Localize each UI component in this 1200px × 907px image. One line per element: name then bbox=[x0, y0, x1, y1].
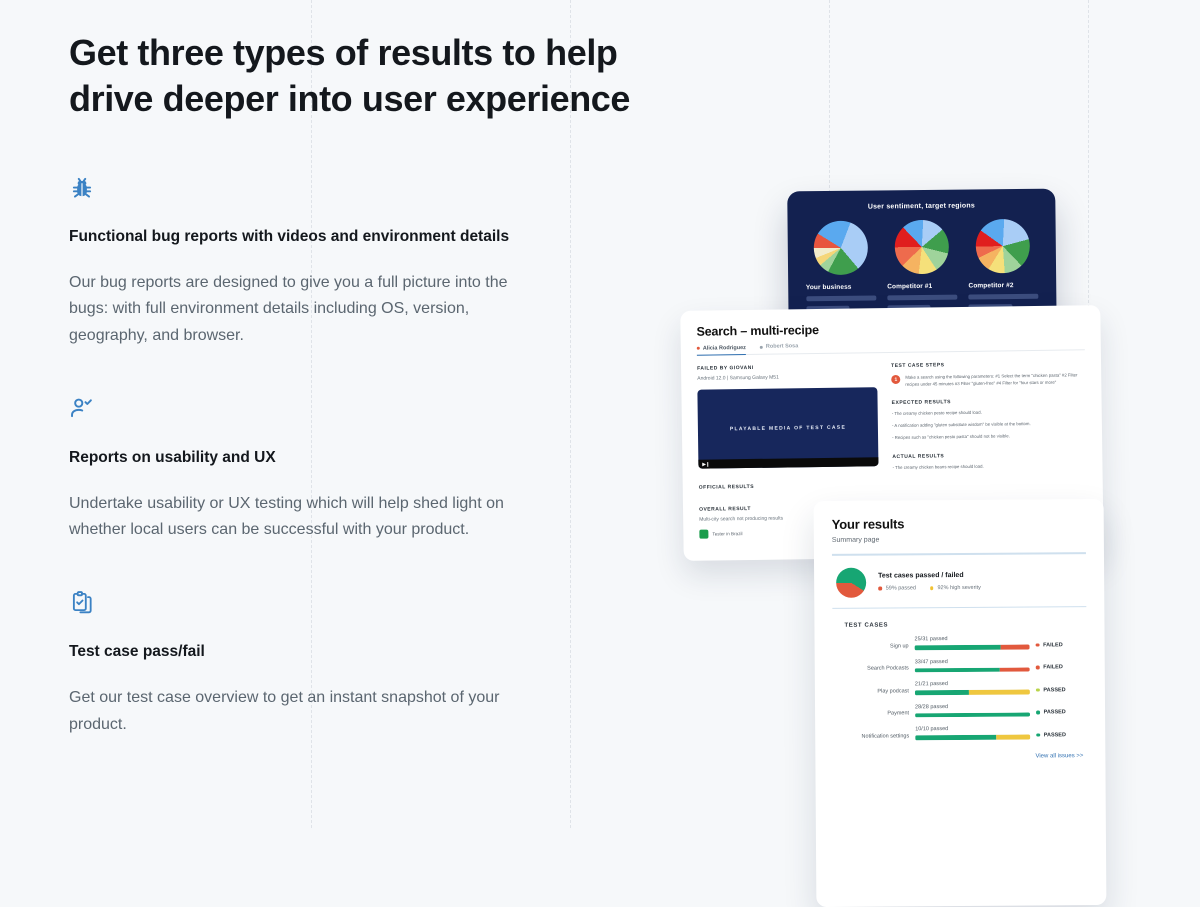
pie-chart bbox=[813, 221, 868, 276]
test-case-row: Notification settings10/10 passedPASSED bbox=[833, 725, 1087, 740]
results-title: Your results bbox=[832, 515, 1086, 532]
test-case-name: Notification settings bbox=[833, 733, 909, 741]
divider bbox=[832, 552, 1086, 555]
tab-tester-alicia[interactable]: Alicia Rodriguez bbox=[697, 344, 746, 356]
test-case-caption: 21/21 passed bbox=[915, 681, 1030, 688]
test-case-caption: 33/47 passed bbox=[915, 658, 1030, 665]
progress-fill-passed bbox=[915, 735, 996, 740]
test-case-name: Payment bbox=[833, 710, 909, 718]
content-column: Get three types of results to help drive… bbox=[69, 30, 709, 778]
test-case-status: PASSED bbox=[1036, 709, 1086, 716]
status-dot-icon bbox=[1036, 711, 1040, 715]
legend-item-passed: 59% passed bbox=[878, 585, 916, 591]
test-case-name: Sign up bbox=[833, 643, 909, 651]
legend-item-severity: 92% high severity bbox=[930, 585, 981, 591]
feature-item-bug-reports: Functional bug reports with videos and e… bbox=[69, 174, 709, 349]
flag-icon bbox=[699, 530, 708, 539]
bug-icon bbox=[69, 174, 95, 200]
progress-fill-passed bbox=[915, 645, 1001, 650]
page-title: Get three types of results to help drive… bbox=[69, 30, 709, 122]
pie-chart bbox=[895, 220, 950, 275]
test-case-name: Search Podcasts bbox=[833, 665, 909, 673]
pie-chart-competitor-1: Competitor #1 bbox=[887, 220, 958, 311]
test-case-row: Payment28/28 passedPASSED bbox=[833, 703, 1087, 718]
divider bbox=[832, 606, 1086, 609]
test-case-caption: 28/28 passed bbox=[915, 703, 1030, 710]
status-dot-icon bbox=[697, 347, 700, 350]
legend-label: 92% high severity bbox=[937, 585, 980, 591]
clipboard-check-icon bbox=[69, 589, 95, 615]
test-case-row: Search Podcasts33/47 passedFAILED bbox=[833, 658, 1087, 673]
step-text: Make a search using the following parame… bbox=[905, 372, 1085, 388]
status-label: PASSED bbox=[1043, 687, 1065, 693]
legend-swatch-icon bbox=[930, 586, 934, 590]
media-player[interactable]: PLAYABLE MEDIA OF TEST CASE ▶❙ bbox=[697, 387, 878, 469]
status-dot-icon bbox=[1036, 688, 1040, 692]
status-dot-icon bbox=[1036, 643, 1040, 647]
feature-item-usability: Reports on usability and UX Undertake us… bbox=[69, 395, 709, 543]
tab-label: Robert Sosa bbox=[766, 343, 798, 349]
summary-block: Test cases passed / failed 59% passed 92… bbox=[836, 566, 1086, 598]
feature-item-test-cases: Test case pass/fail Get our test case ov… bbox=[69, 589, 709, 737]
summary-legend: 59% passed 92% high severity bbox=[878, 585, 981, 592]
actual-results-heading: ACTUAL RESULTS bbox=[892, 451, 1086, 460]
status-dot-icon bbox=[1036, 666, 1040, 670]
progress-fill-remainder bbox=[969, 690, 1030, 695]
progress-bar bbox=[915, 712, 1030, 717]
test-step: 1 Make a search using the following para… bbox=[891, 372, 1085, 388]
tester-name: Tester in Brazil bbox=[712, 531, 742, 536]
progress-fill-passed bbox=[915, 690, 969, 695]
progress-fill-remainder bbox=[1001, 645, 1030, 650]
test-case-progress: 33/47 passed bbox=[915, 658, 1030, 672]
progress-fill-remainder bbox=[1000, 667, 1030, 672]
pie-chart-competitor-2: Competitor #2 bbox=[968, 219, 1039, 310]
feature-title: Test case pass/fail bbox=[69, 641, 709, 663]
test-cases-heading: TEST CASES bbox=[844, 621, 1086, 629]
failed-by-heading: FAILED BY GIOVANI bbox=[697, 363, 877, 372]
progress-bar bbox=[915, 690, 1030, 695]
test-case-status: FAILED bbox=[1036, 642, 1086, 649]
test-case-caption: 10/10 passed bbox=[915, 726, 1030, 733]
test-case-caption: 25/31 passed bbox=[915, 636, 1030, 643]
pie-chart bbox=[976, 219, 1031, 274]
feature-body: Our bug reports are designed to give you… bbox=[69, 270, 549, 349]
pie-label: Your business bbox=[806, 283, 876, 291]
progress-bar bbox=[915, 645, 1030, 650]
actual-result-item: - The creamy chicken beans recipe should… bbox=[893, 462, 1087, 472]
expected-result-item: - Recipes such as "chicken pesto pasta" … bbox=[892, 432, 1086, 442]
progress-fill-remainder bbox=[996, 735, 1031, 740]
feature-title: Reports on usability and UX bbox=[69, 447, 709, 469]
progress-fill-passed bbox=[915, 667, 1000, 672]
pie-label: Competitor #2 bbox=[968, 282, 1038, 290]
feature-title: Functional bug reports with videos and e… bbox=[69, 226, 709, 248]
status-label: FAILED bbox=[1043, 642, 1063, 648]
status-dot-icon bbox=[1036, 733, 1040, 737]
expected-result-item: - A notification adding "gluten substitu… bbox=[892, 420, 1086, 430]
feature-body: Undertake usability or UX testing which … bbox=[69, 491, 549, 544]
test-case-title: Search – multi-recipe bbox=[696, 319, 1084, 338]
test-case-status: FAILED bbox=[1036, 664, 1086, 671]
test-case-name: Play podcast bbox=[833, 688, 909, 696]
legend-swatch-icon bbox=[878, 587, 882, 591]
user-check-icon bbox=[69, 395, 95, 421]
test-case-progress: 28/28 passed bbox=[915, 703, 1030, 717]
view-all-issues-link[interactable]: View all issues >> bbox=[833, 753, 1083, 761]
status-label: PASSED bbox=[1044, 709, 1066, 715]
status-label: FAILED bbox=[1043, 664, 1063, 670]
expected-result-item: - The creamy chicken pesto recipe should… bbox=[892, 409, 1086, 419]
official-results-heading: OFFICIAL RESULTS bbox=[699, 482, 879, 491]
tab-label: Alicia Rodriguez bbox=[703, 345, 746, 352]
test-case-status: PASSED bbox=[1036, 732, 1086, 739]
placeholder-bar bbox=[806, 295, 876, 301]
sentiment-card-title: User sentiment, target regions bbox=[787, 202, 1055, 212]
progress-bar bbox=[915, 735, 1030, 740]
test-case-progress: 25/31 passed bbox=[915, 636, 1030, 650]
pie-label: Competitor #1 bbox=[887, 283, 957, 291]
test-case-status: PASSED bbox=[1036, 687, 1086, 694]
media-controls[interactable]: ▶❙ bbox=[698, 457, 878, 469]
product-screenshot-stack: User sentiment, target regions Your busi… bbox=[660, 150, 1200, 810]
legend-label: 59% passed bbox=[886, 585, 916, 591]
status-dot-icon bbox=[760, 345, 763, 348]
landing-section: Get three types of results to help drive… bbox=[0, 0, 1200, 828]
progress-fill-passed bbox=[915, 712, 1030, 717]
tester-tabs: Alicia Rodriguez Robert Sosa bbox=[697, 339, 1085, 355]
results-card: Your results Summary page Test cases pas… bbox=[814, 499, 1107, 907]
feature-body: Get our test case overview to get an ins… bbox=[69, 685, 549, 738]
placeholder-bar bbox=[887, 295, 957, 301]
progress-bar bbox=[915, 667, 1030, 672]
test-case-steps-heading: TEST CASE STEPS bbox=[891, 360, 1085, 369]
step-number: 1 bbox=[891, 375, 900, 384]
tab-tester-robert[interactable]: Robert Sosa bbox=[760, 343, 798, 350]
pass-fail-donut-chart bbox=[836, 567, 866, 597]
test-case-progress: 21/21 passed bbox=[915, 681, 1030, 695]
status-label: PASSED bbox=[1044, 732, 1066, 738]
pie-chart-your-business: Your business bbox=[805, 220, 876, 311]
test-case-row: Sign up25/31 passedFAILED bbox=[833, 635, 1087, 650]
test-case-row: Play podcast21/21 passedPASSED bbox=[833, 680, 1087, 695]
placeholder-bar bbox=[969, 294, 1039, 300]
expected-results-heading: EXPECTED RESULTS bbox=[892, 398, 1086, 407]
test-case-progress: 10/10 passed bbox=[915, 726, 1030, 740]
test-case-list: Sign up25/31 passedFAILEDSearch Podcasts… bbox=[833, 635, 1088, 740]
summary-title: Test cases passed / failed bbox=[878, 572, 981, 580]
media-placeholder-label: PLAYABLE MEDIA OF TEST CASE bbox=[730, 424, 846, 432]
play-icon[interactable]: ▶❙ bbox=[702, 461, 709, 467]
sentiment-pie-group: Your business Competitor #1 Competitor #… bbox=[788, 219, 1057, 312]
environment-details: Android 12.0 | Samsung Galaxy M51 bbox=[697, 373, 877, 382]
results-subtitle: Summary page bbox=[832, 535, 1086, 544]
